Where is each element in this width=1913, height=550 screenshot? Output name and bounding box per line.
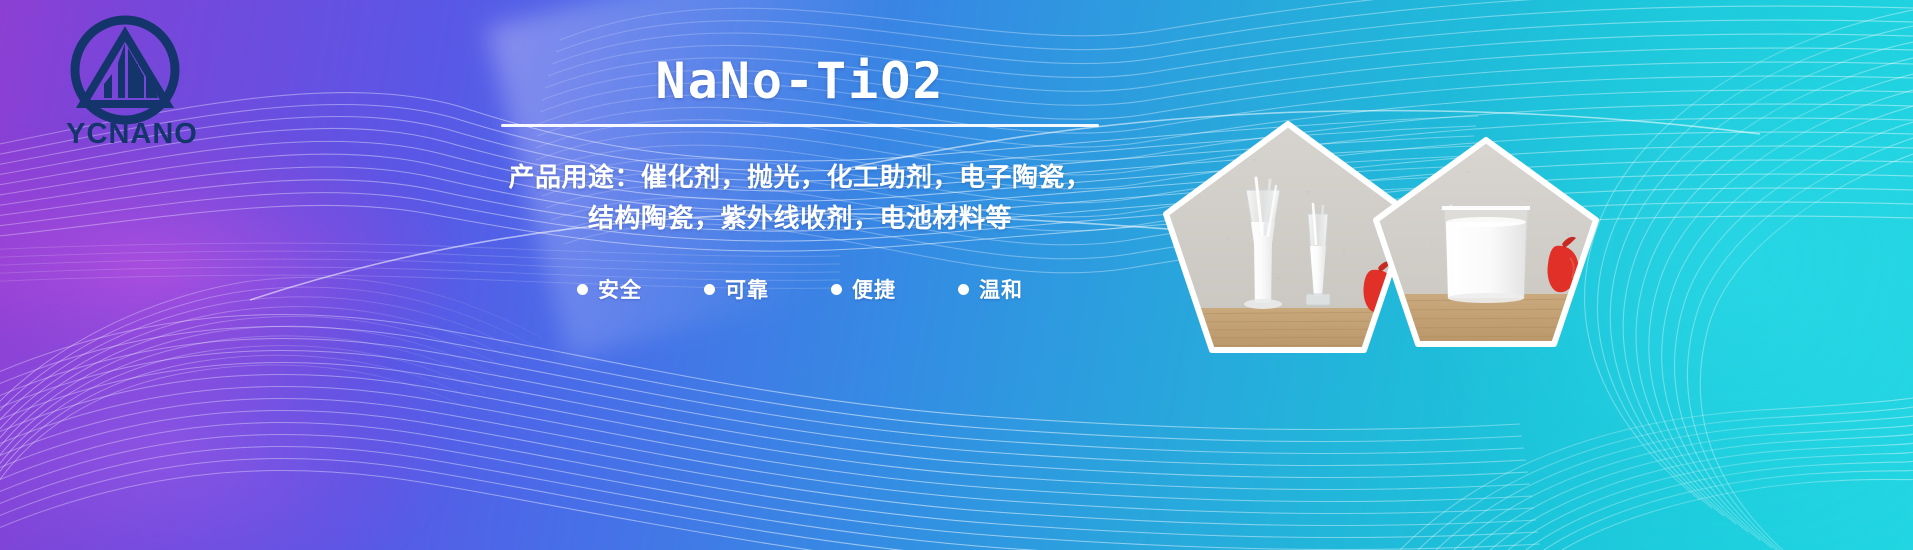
feature-item-mild: 温和 xyxy=(958,274,1023,304)
dot-icon xyxy=(704,284,715,295)
product-photo-group xyxy=(1130,0,1913,550)
hero-content: NaNo-TiO2 产品用途：催化剂，抛光，化工助剂，电子陶瓷， 结构陶瓷，紫外… xyxy=(470,54,1130,304)
product-description: 产品用途：催化剂，抛光，化工助剂，电子陶瓷， 结构陶瓷，紫外线收剂，电池材料等 xyxy=(470,158,1130,240)
wave-band-left-arcs xyxy=(0,277,542,550)
description-line-2: 结构陶瓷，紫外线收剂，电池材料等 xyxy=(470,199,1130,240)
feature-item-convenient: 便捷 xyxy=(831,274,896,304)
dot-icon xyxy=(958,284,969,295)
ycnano-logo-svg xyxy=(66,14,184,126)
brand-name: YCNANO xyxy=(52,120,212,149)
feature-item-safe: 安全 xyxy=(577,274,642,304)
violet-glow xyxy=(0,300,440,550)
brand-logo[interactable]: YCNANO xyxy=(52,14,212,159)
feature-label: 便捷 xyxy=(852,274,896,304)
dot-icon xyxy=(577,284,588,295)
feature-label: 安全 xyxy=(598,274,642,304)
feature-label: 温和 xyxy=(979,274,1023,304)
ycnano-logo-icon xyxy=(66,14,184,126)
feature-item-reliable: 可靠 xyxy=(704,274,769,304)
product-banner: YCNANO NaNo-TiO2 产品用途：催化剂，抛光，化工助剂，电子陶瓷， … xyxy=(0,0,1913,550)
product-photo-beaker[interactable] xyxy=(1368,134,1604,350)
page-title: NaNo-TiO2 xyxy=(470,54,1130,108)
product-photo-beaker-svg xyxy=(1368,134,1604,350)
feature-list: 安全 可靠 便捷 温和 xyxy=(470,274,1130,304)
feature-label: 可靠 xyxy=(725,274,769,304)
magenta-glow xyxy=(0,120,460,420)
title-divider xyxy=(501,124,1099,127)
beaker xyxy=(1440,204,1530,303)
dot-icon xyxy=(831,284,842,295)
description-line-1: 产品用途：催化剂，抛光，化工助剂，电子陶瓷， xyxy=(508,163,1091,193)
